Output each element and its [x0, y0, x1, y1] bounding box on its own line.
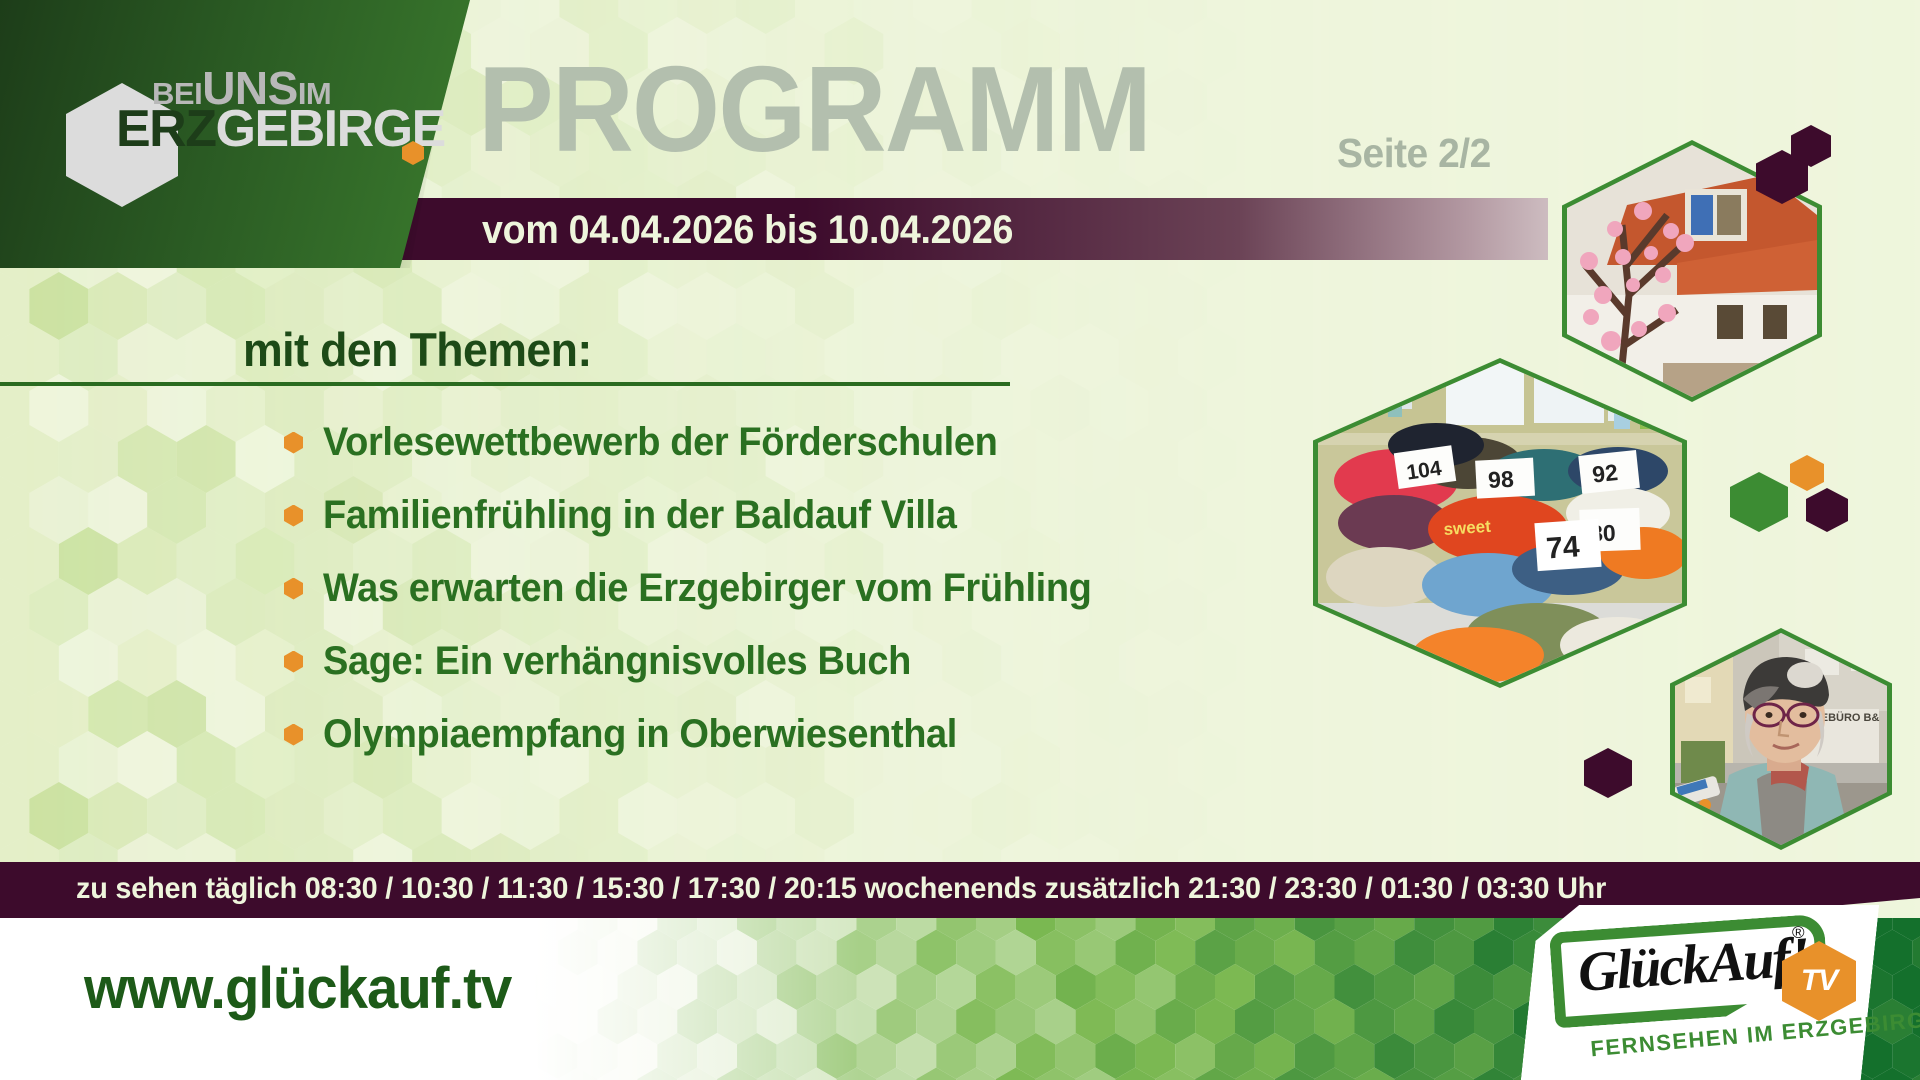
list-item: Familienfrühling in der Baldauf Villa: [284, 479, 1364, 552]
glueckauf-tv-logo: GlückAuf! ® TV FERNSEHEN IM ERZGEBIRGE: [1530, 905, 1870, 1080]
topic-label: Was erwarten die Erzgebirger vom Frühlin…: [323, 566, 1092, 611]
svg-text:104: 104: [1405, 457, 1443, 485]
svg-text:92: 92: [1591, 459, 1619, 488]
topic-label: Familienfrühling in der Baldauf Villa: [323, 493, 956, 538]
decorative-hexagon-plum: [1584, 748, 1632, 798]
website-link[interactable]: www.glückauf.tv: [84, 955, 511, 1022]
svg-text:98: 98: [1487, 466, 1514, 493]
topic-list: Vorlesewettbewerb der Förderschulen Fami…: [284, 406, 1364, 771]
hexagon-bullet-icon: [284, 505, 303, 527]
bei-uns-im-erzgebirge-logo: BEIUNSIM ERZGEBIRGE: [66, 55, 426, 185]
page-indicator: Seite 2/2: [1337, 130, 1491, 177]
list-item: Vorlesewettbewerb der Förderschulen: [284, 406, 1364, 479]
svg-text:sweet: sweet: [1443, 517, 1492, 539]
logo-word-erz: ERZ: [116, 100, 216, 158]
photo-interview-portrait-elderly-woman: EISEBÜRO B&: [1670, 628, 1892, 850]
date-range-label: vom 04.04.2026 bis 10.04.2026: [482, 208, 1013, 253]
topic-label: Olympiaempfang in Oberwiesenthal: [323, 712, 957, 757]
hexagon-bullet-icon: [284, 724, 303, 746]
broadcast-times-label: zu sehen täglich 08:30 / 10:30 / 11:30 /…: [76, 872, 1606, 906]
list-item: Was erwarten die Erzgebirger vom Frühlin…: [284, 552, 1364, 625]
hexagon-bullet-icon: [284, 432, 303, 454]
list-item: Sage: Ein verhängnisvolles Buch: [284, 625, 1364, 698]
hexagon-bullet-icon: [284, 651, 303, 673]
section-heading-rule: [0, 382, 1010, 386]
topic-label: Vorlesewettbewerb der Förderschulen: [323, 420, 997, 465]
svg-text:74: 74: [1545, 530, 1581, 565]
list-item: Olympiaempfang in Oberwiesenthal: [284, 698, 1364, 771]
topic-label: Sage: Ein verhängnisvolles Buch: [323, 639, 911, 684]
decorative-hexagon-orange: [1790, 455, 1824, 491]
section-heading: mit den Themen:: [243, 322, 592, 377]
registered-trademark-icon: ®: [1792, 923, 1805, 943]
logo-station-word: GlückAuf: [1576, 927, 1791, 1004]
hexagon-bullet-icon: [284, 578, 303, 600]
photo-childrens-clothing-sale: 104 98 92 80 74 sweet: [1313, 358, 1687, 688]
logo-tv-label: TV: [1801, 964, 1837, 998]
page-title: PROGRAMM: [478, 48, 1150, 170]
decorative-hexagon-green: [1730, 472, 1788, 532]
logo-line-two: ERZGEBIRGE: [116, 99, 445, 159]
program-poster: BEIUNSIM ERZGEBIRGE PROGRAMM Seite 2/2 v…: [0, 0, 1920, 1080]
decorative-hexagon-plum: [1806, 488, 1848, 532]
